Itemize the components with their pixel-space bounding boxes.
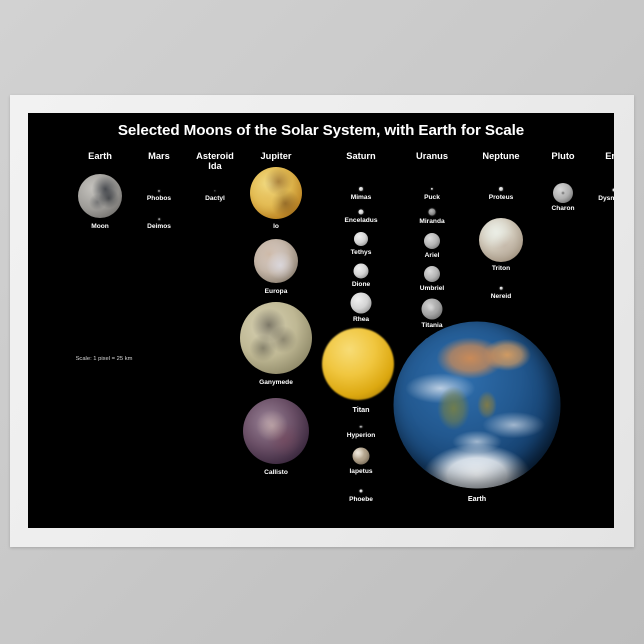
body-deimos [158, 218, 160, 220]
body-iapetus [353, 448, 370, 465]
label-titan: Titan [352, 405, 369, 414]
label-ganymede: Ganymede [259, 379, 293, 386]
page-title: Selected Moons of the Solar System, with… [28, 122, 614, 139]
body-charon [553, 183, 573, 203]
label-proteus: Proteus [489, 194, 514, 201]
label-phoebe: Phoebe [349, 496, 373, 503]
scale-note: Scale: 1 pixel = 25 km [76, 356, 133, 362]
body-hyperion [360, 426, 363, 428]
body-dactyl [214, 190, 215, 191]
column-header-uranus: Uranus [416, 151, 448, 161]
column-header-eris: Eris [605, 151, 614, 161]
column-header-asteroid-ida-line2: Ida [196, 161, 234, 171]
label-io: Io [273, 223, 279, 230]
label-titania: Titania [421, 322, 442, 329]
body-triton [479, 218, 523, 262]
label-puck: Puck [424, 194, 440, 201]
body-dysnomia [613, 189, 615, 192]
label-hyperion: Hyperion [347, 432, 376, 439]
body-mimas [359, 187, 363, 191]
label-umbriel: Umbriel [420, 285, 445, 292]
body-ganymede [240, 302, 312, 374]
poster-print-area: Selected Moons of the Solar System, with… [28, 113, 614, 528]
label-phobos: Phobos [147, 195, 171, 202]
label-charon: Charon [551, 205, 574, 212]
column-header-saturn: Saturn [346, 151, 375, 161]
column-header-jupiter: Jupiter [261, 151, 292, 161]
label-dysnomia: Dysnomia [598, 195, 614, 202]
poster-paper: Selected Moons of the Solar System, with… [10, 95, 634, 547]
body-proteus [499, 187, 503, 191]
label-enceladus: Enceladus [345, 217, 378, 224]
column-header-asteroid-ida-line1: Asteroid [196, 151, 234, 161]
body-dione [354, 264, 369, 279]
body-miranda [429, 209, 436, 216]
body-titania [422, 299, 443, 320]
label-ariel: Ariel [425, 252, 440, 259]
label-deimos: Deimos [147, 223, 171, 230]
body-callisto [243, 398, 309, 464]
label-tethys: Tethys [351, 249, 372, 256]
body-earth [394, 322, 561, 489]
body-titan [322, 328, 394, 400]
label-mimas: Mimas [351, 194, 372, 201]
body-europa [254, 239, 298, 283]
label-europa: Europa [265, 288, 288, 295]
column-header-earth: Earth [88, 151, 112, 161]
body-moon [78, 174, 122, 218]
label-dione: Dione [352, 281, 370, 288]
body-ariel [424, 233, 440, 249]
label-dactyl: Dactyl [205, 195, 225, 202]
label-nereid: Nereid [491, 293, 512, 300]
body-nereid [500, 287, 503, 290]
body-enceladus [359, 210, 364, 215]
label-callisto: Callisto [264, 469, 288, 476]
body-tethys [354, 232, 368, 246]
body-rhea [351, 293, 372, 314]
label-rhea: Rhea [353, 316, 369, 323]
label-triton: Triton [492, 265, 510, 272]
label-miranda: Miranda [419, 218, 444, 225]
body-io [250, 167, 302, 219]
column-header-asteroid-ida: Asteroid Ida [196, 151, 234, 171]
column-header-neptune: Neptune [482, 151, 519, 161]
body-puck [431, 188, 433, 190]
column-header-pluto: Pluto [551, 151, 574, 161]
poster-stage: Selected Moons of the Solar System, with… [0, 0, 644, 644]
column-header-mars: Mars [148, 151, 170, 161]
label-moon: Moon [91, 223, 109, 230]
body-phobos [158, 190, 160, 192]
body-phoebe [360, 490, 363, 493]
label-iapetus: Iapetus [349, 468, 372, 475]
body-umbriel [424, 266, 440, 282]
label-earth: Earth [468, 494, 486, 503]
